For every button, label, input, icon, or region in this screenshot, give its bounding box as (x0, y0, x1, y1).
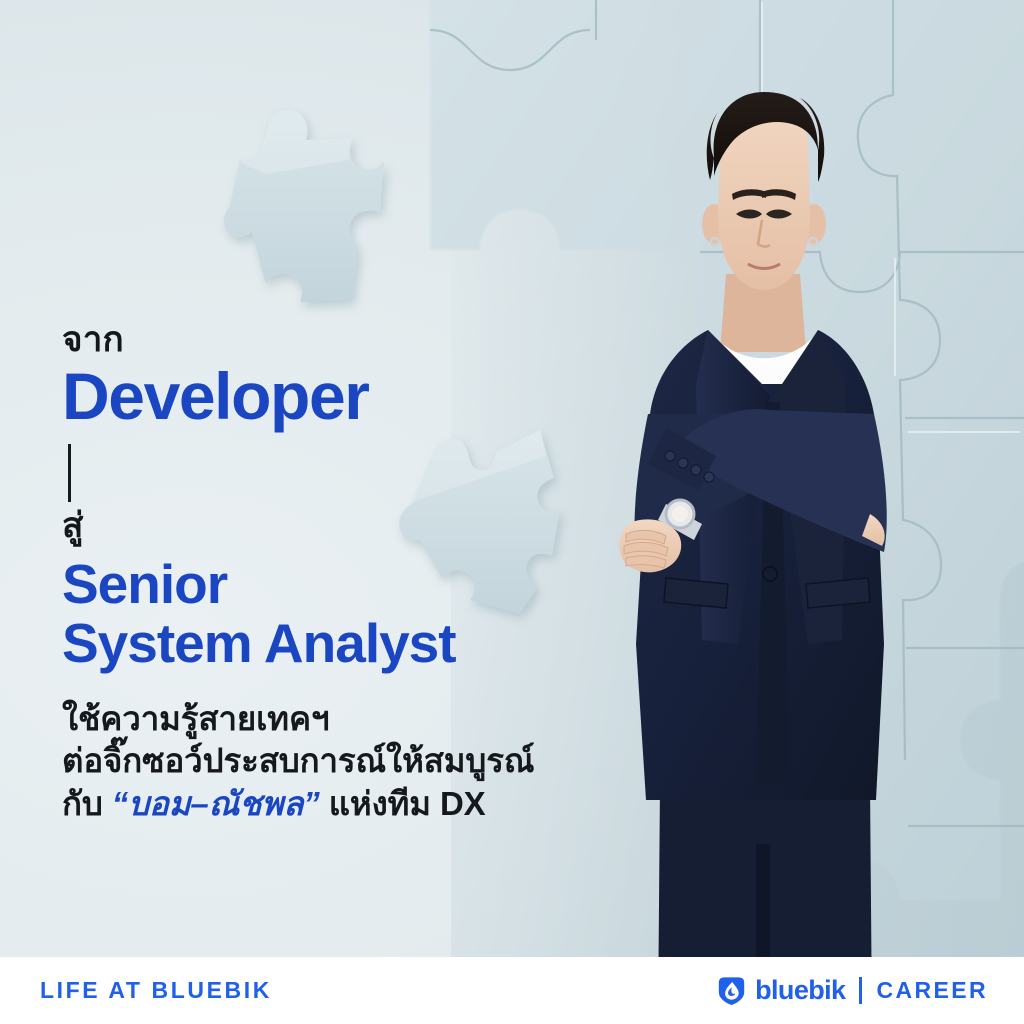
headline-block: จาก Developer สู่ Senior System Analyst … (62, 322, 662, 826)
description-line-3: กับ “บอม–ณัชพล” แห่งทีม DX (62, 783, 662, 826)
vertical-rule-divider (68, 444, 71, 502)
kicker-from: จาก (62, 322, 662, 359)
description-line-3-pre: กับ (62, 785, 112, 822)
bluebik-droplet-shield-icon (717, 976, 746, 1006)
headline-senior-system-analyst: Senior System Analyst (62, 555, 662, 674)
description-line-1: ใช้ความรู้สายเทคฯ (62, 698, 662, 741)
description-nickname-highlight: “บอม–ณัชพล” (112, 785, 320, 822)
headline-developer: Developer (62, 363, 662, 430)
footer-career-label[interactable]: CAREER (876, 977, 988, 1004)
footer-life-at-bluebik-label: LIFE AT BLUEBIK (40, 977, 272, 1004)
loose-puzzle-piece-icon (224, 110, 384, 302)
footer-brand-group: bluebik CAREER (717, 975, 988, 1006)
vertical-divider-icon (859, 977, 862, 1004)
bluebik-wordmark: bluebik (755, 975, 845, 1006)
footer-bar: LIFE AT BLUEBIK bluebik CAREER (0, 957, 1024, 1024)
headline-line-2: System Analyst (62, 614, 662, 673)
description-block: ใช้ความรู้สายเทคฯ ต่อจิ๊กซอว์ประสบการณ์ใ… (62, 698, 662, 827)
poster-canvas: จาก Developer สู่ Senior System Analyst … (0, 0, 1024, 1024)
description-line-3-post: แห่งทีม DX (320, 785, 486, 822)
bluebik-logo[interactable]: bluebik (717, 975, 845, 1006)
description-line-2: ต่อจิ๊กซอว์ประสบการณ์ให้สมบูรณ์ (62, 740, 662, 783)
headline-line-1: Senior (62, 555, 662, 614)
kicker-to: สู่ (62, 508, 662, 545)
